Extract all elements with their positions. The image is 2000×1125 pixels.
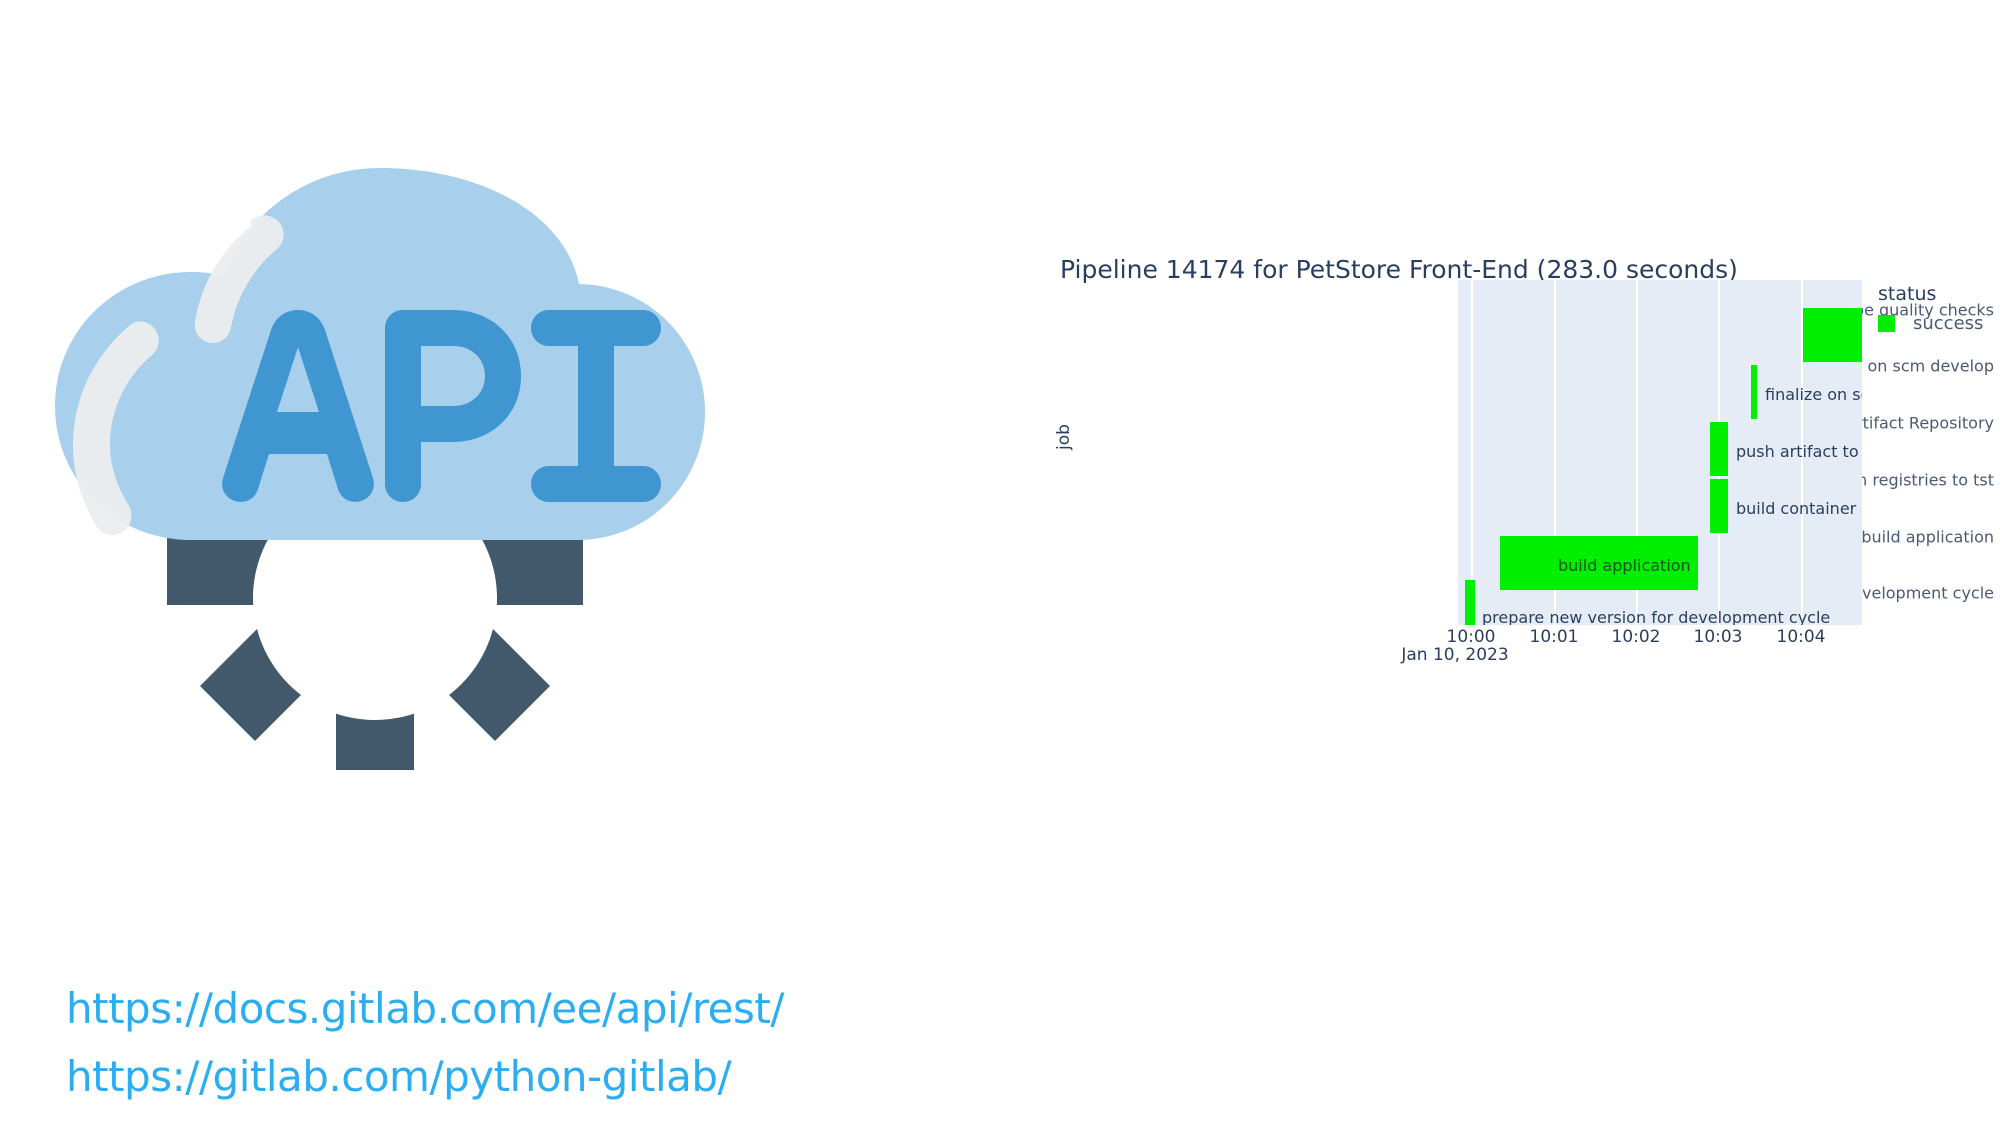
gantt-bar[interactable] (1803, 308, 1862, 362)
x-axis-date-label: Jan 10, 2023 (1401, 645, 1508, 665)
plot-area: sonarqube quality checks finalize on scm… (1458, 280, 1862, 625)
legend-item-success[interactable]: success (1878, 313, 2000, 334)
gantt-bar[interactable] (1751, 365, 1757, 419)
link-python-gitlab[interactable]: https://gitlab.com/python-gitlab/ (66, 1043, 966, 1111)
x-tick-label: 10:00 (1447, 627, 1496, 647)
plot-wrapper: job sonarqube quality checks finalize on… (1060, 255, 2000, 895)
api-logo (55, 150, 705, 770)
gantt-bar[interactable] (1465, 580, 1475, 625)
x-tick-label: 10:01 (1530, 627, 1579, 647)
gantt-bar-label: build container and store in registries … (1736, 501, 1862, 517)
pipeline-gantt-chart: Pipeline 14174 for PetStore Front-End (2… (1060, 255, 2000, 895)
cloud-icon (55, 168, 705, 540)
legend-item-label: success (1913, 313, 1983, 334)
x-tick-label: 10:02 (1612, 627, 1661, 647)
gantt-bar-label: build application (1558, 558, 1691, 574)
gantt-bar-label: prepare new version for development cycl… (1482, 610, 1830, 625)
gantt-bar[interactable] (1710, 422, 1728, 476)
x-tick-label: 10:03 (1694, 627, 1743, 647)
link-list: https://docs.gitlab.com/ee/api/rest/ htt… (66, 975, 966, 1111)
gridline (1471, 280, 1473, 625)
legend-title: status (1878, 283, 2000, 305)
gantt-bar[interactable] (1710, 479, 1728, 533)
gantt-bar-label: push artifact to Nexus Artifact Reposito… (1736, 444, 1862, 460)
gantt-bar-label: finalize on scm develop (1765, 387, 1862, 403)
legend-swatch-icon (1878, 315, 1895, 332)
x-tick-label: 10:04 (1777, 627, 1826, 647)
link-gitlab-rest-api-docs[interactable]: https://docs.gitlab.com/ee/api/rest/ (66, 975, 966, 1043)
legend: status success (1878, 283, 2000, 334)
y-axis-title: job (1054, 424, 1074, 450)
api-cloud-gear-logo (55, 150, 705, 770)
